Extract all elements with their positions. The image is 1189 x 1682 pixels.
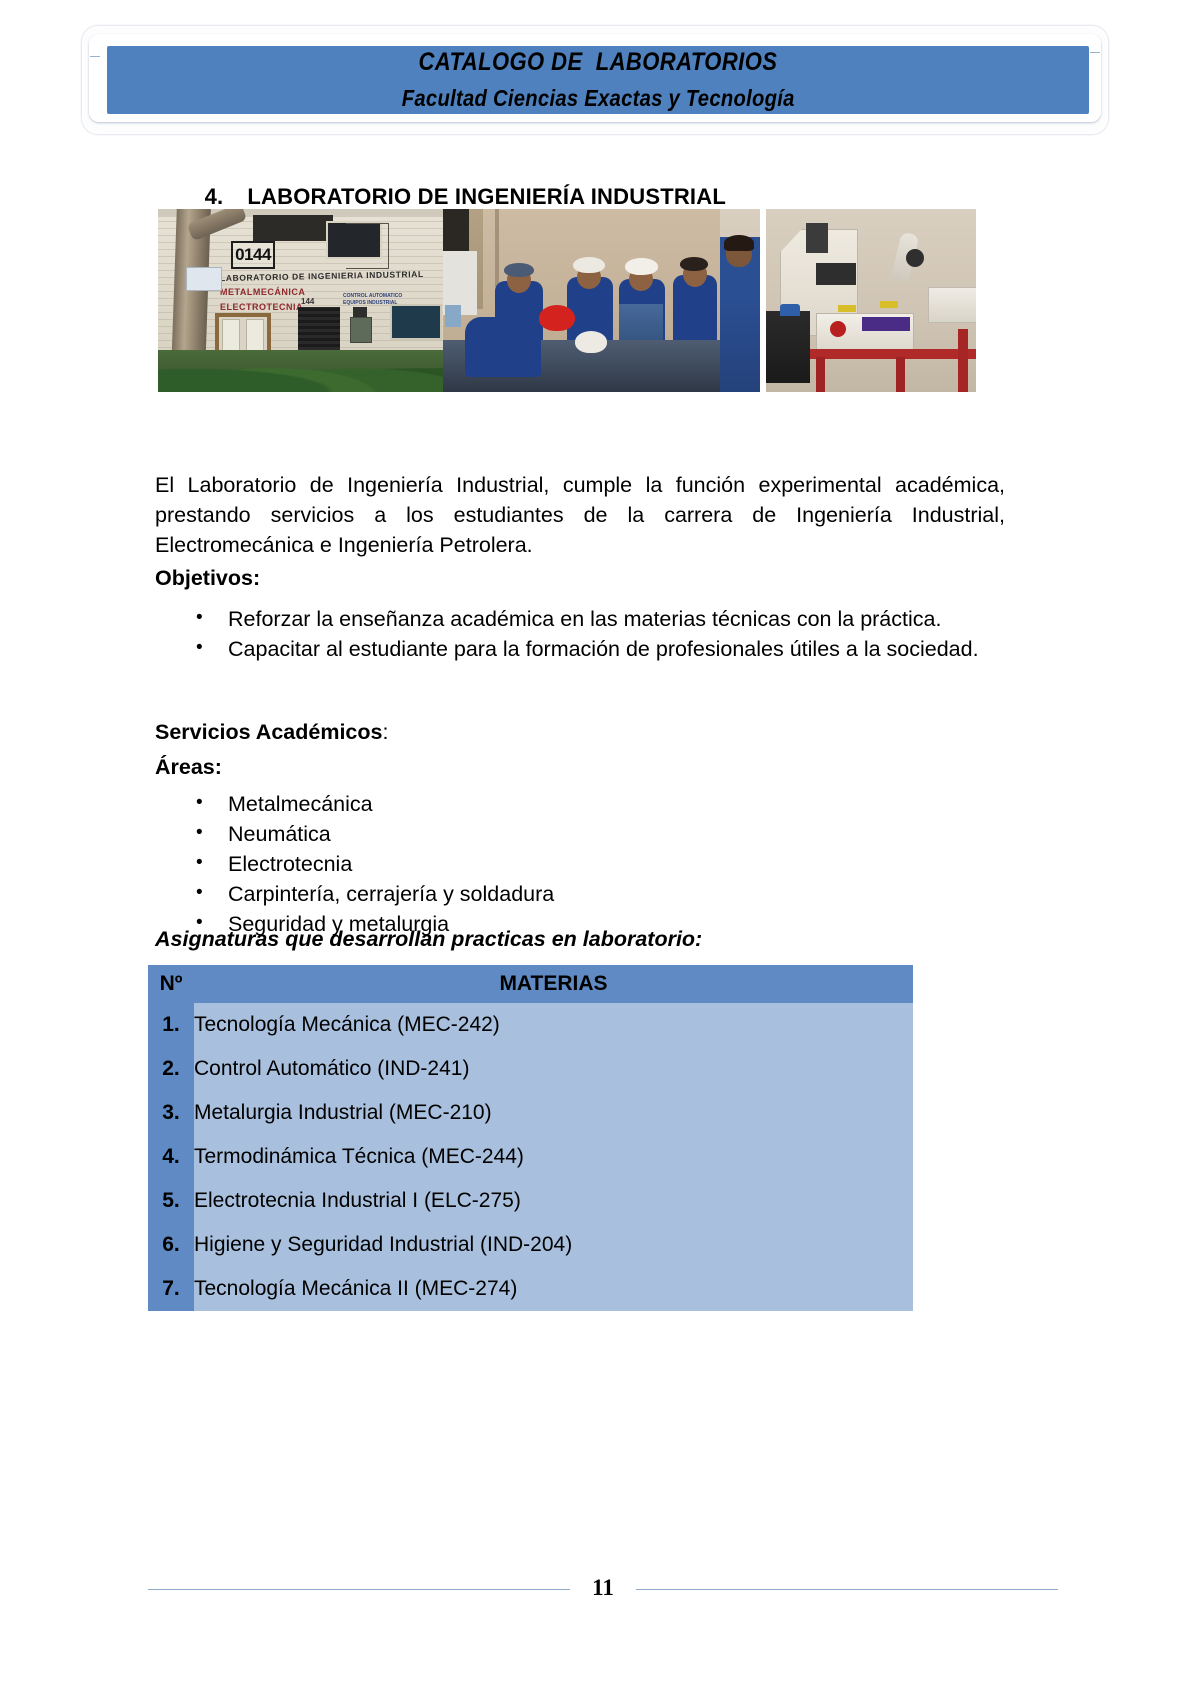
list-item: Neumática xyxy=(155,819,1005,849)
row-number: 2. xyxy=(148,1047,194,1091)
workshop-blue-panel xyxy=(445,305,461,327)
facade-door-number: 144 xyxy=(301,297,314,306)
page-title: 4.LABORATORIO DE INGENIERÍA INDUSTRIAL xyxy=(192,158,726,210)
student-hair-4 xyxy=(680,257,708,271)
photo-strip: 0144 LABORATORIO DE INGENIERIA INDUSTRIA… xyxy=(158,209,976,392)
header-inner-frame: CATALOGO DE LABORATORIOS Facultad Cienci… xyxy=(89,34,1101,122)
facade-posted-paper xyxy=(186,267,222,291)
student-helmet-2 xyxy=(573,257,605,273)
facade-sign-metalmecanica: METALMECÁNICA xyxy=(220,287,305,297)
red-workbench-leg-3 xyxy=(958,329,968,392)
header-corner-tick-right-icon xyxy=(1090,52,1100,63)
areas-heading: Áreas: xyxy=(155,755,222,780)
list-item: Electrotecnia xyxy=(155,849,1005,879)
areas-list: Metalmecánica Neumática Electrotecnia Ca… xyxy=(155,789,1005,939)
student-helmet-3 xyxy=(625,258,658,275)
table-row: 7. Tecnología Mecánica II (MEC-274) xyxy=(148,1267,913,1311)
row-number: 4. xyxy=(148,1135,194,1179)
row-materia: Tecnología Mecánica (MEC-242) xyxy=(194,1003,913,1047)
list-item: Reforzar la enseñanza académica en las m… xyxy=(155,604,1005,634)
table-row: 2. Control Automático (IND-241) xyxy=(148,1047,913,1091)
header-title-secondary: Facultad Ciencias Exactas y Tecnología xyxy=(402,85,795,112)
workshop-wall-seam xyxy=(495,209,499,287)
header-title-primary: CATALOGO DE LABORATORIOS xyxy=(419,48,778,77)
student-cap-1 xyxy=(504,263,534,277)
facade-bushes xyxy=(158,350,443,392)
red-workbench-leg-1 xyxy=(816,357,825,392)
row-number: 1. xyxy=(148,1003,194,1047)
row-materia: Higiene y Seguridad Industrial (IND-204) xyxy=(194,1223,913,1267)
facade-roof-shadow xyxy=(253,215,333,241)
table-row: 1. Tecnología Mecánica (MEC-242) xyxy=(148,1003,913,1047)
facade-plaque xyxy=(350,317,372,343)
footer-rule-right xyxy=(636,1589,1058,1590)
equipment-right-instrument xyxy=(928,287,976,323)
measuring-machine-dark-panel xyxy=(816,263,856,285)
column-header-materias: MATERIAS xyxy=(194,965,913,1003)
row-materia: Electrotecnia Industrial I (ELC-275) xyxy=(194,1179,913,1223)
facade-railing xyxy=(346,223,389,269)
row-materia: Metalurgia Industrial (MEC-210) xyxy=(194,1091,913,1135)
red-workbench-leg-2 xyxy=(896,357,905,392)
facade-side-window xyxy=(390,304,442,340)
intro-paragraph: El Laboratorio de Ingeniería Industrial,… xyxy=(155,470,1005,560)
red-workbench-top xyxy=(808,349,976,359)
row-number: 5. xyxy=(148,1179,194,1223)
footer-rule-left xyxy=(148,1589,570,1590)
objetivos-list: Reforzar la enseñanza académica en las m… xyxy=(155,604,1005,664)
facade-building-number: 0144 xyxy=(231,241,275,269)
microscope-head xyxy=(906,249,924,267)
student-white-helmet-low xyxy=(575,331,607,353)
photo-students-working xyxy=(443,209,720,392)
row-materia: Control Automático (IND-241) xyxy=(194,1047,913,1091)
section-number: 4. xyxy=(205,184,224,209)
row-materia: Termodinámica Técnica (MEC-244) xyxy=(194,1135,913,1179)
row-number: 6. xyxy=(148,1223,194,1267)
equipment-yellow-label-1 xyxy=(838,305,856,312)
equipment-yellow-label-2 xyxy=(880,301,898,308)
objetivos-heading: Objetivos: xyxy=(155,566,260,591)
table-row: 6. Higiene y Seguridad Industrial (IND-2… xyxy=(148,1223,913,1267)
equipment-display-screen xyxy=(862,317,910,331)
student-body-5-bending xyxy=(465,317,541,377)
table-row: 4. Termodinámica Técnica (MEC-244) xyxy=(148,1135,913,1179)
servicios-colon: : xyxy=(382,720,388,744)
equipment-emergency-knob xyxy=(830,321,846,337)
measuring-machine-arm xyxy=(806,223,828,253)
list-item: Capacitar al estudiante para la formació… xyxy=(155,634,1005,664)
table-caption: Asignaturas que desarrollan practicas en… xyxy=(155,927,702,952)
photo-lab-building-facade: 0144 LABORATORIO DE INGENIERIA INDUSTRIA… xyxy=(158,209,443,392)
photo-lab-equipment xyxy=(720,209,976,392)
materias-table: Nº MATERIAS 1. Tecnología Mecánica (MEC-… xyxy=(148,965,913,1311)
row-number: 7. xyxy=(148,1267,194,1311)
computer-tower xyxy=(766,311,810,383)
list-item: Metalmecánica xyxy=(155,789,1005,819)
page-header-banner: CATALOGO DE LABORATORIOS Facultad Cienci… xyxy=(82,26,1108,134)
section-title-text: LABORATORIO DE INGENIERÍA INDUSTRIAL xyxy=(247,184,726,209)
table-header-row: Nº MATERIAS xyxy=(148,965,913,1003)
page-footer: 11 xyxy=(148,1578,1058,1601)
equipment-left-person-hair xyxy=(724,235,754,251)
table-row: 3. Metalurgia Industrial (MEC-210) xyxy=(148,1091,913,1135)
table-row: 5. Electrotecnia Industrial I (ELC-275) xyxy=(148,1179,913,1223)
column-header-numero: Nº xyxy=(148,965,194,1003)
student-red-helmet xyxy=(539,305,575,331)
facade-sign-electrotecnia: ELECTROTECNIA xyxy=(220,302,303,312)
computer-tower-blue-cap xyxy=(780,304,800,316)
facade-small-box xyxy=(353,307,367,317)
header-blue-band: CATALOGO DE LABORATORIOS Facultad Cienci… xyxy=(107,46,1089,114)
header-corner-tick-left-icon xyxy=(90,56,100,67)
servicios-label: Servicios Académicos xyxy=(155,720,382,744)
row-number: 3. xyxy=(148,1091,194,1135)
list-item: Carpintería, cerrajería y soldadura xyxy=(155,879,1005,909)
row-materia: Tecnología Mecánica II (MEC-274) xyxy=(194,1267,913,1311)
servicios-academicos-heading: Servicios Académicos: xyxy=(155,720,388,745)
page-number: 11 xyxy=(570,1576,636,1599)
